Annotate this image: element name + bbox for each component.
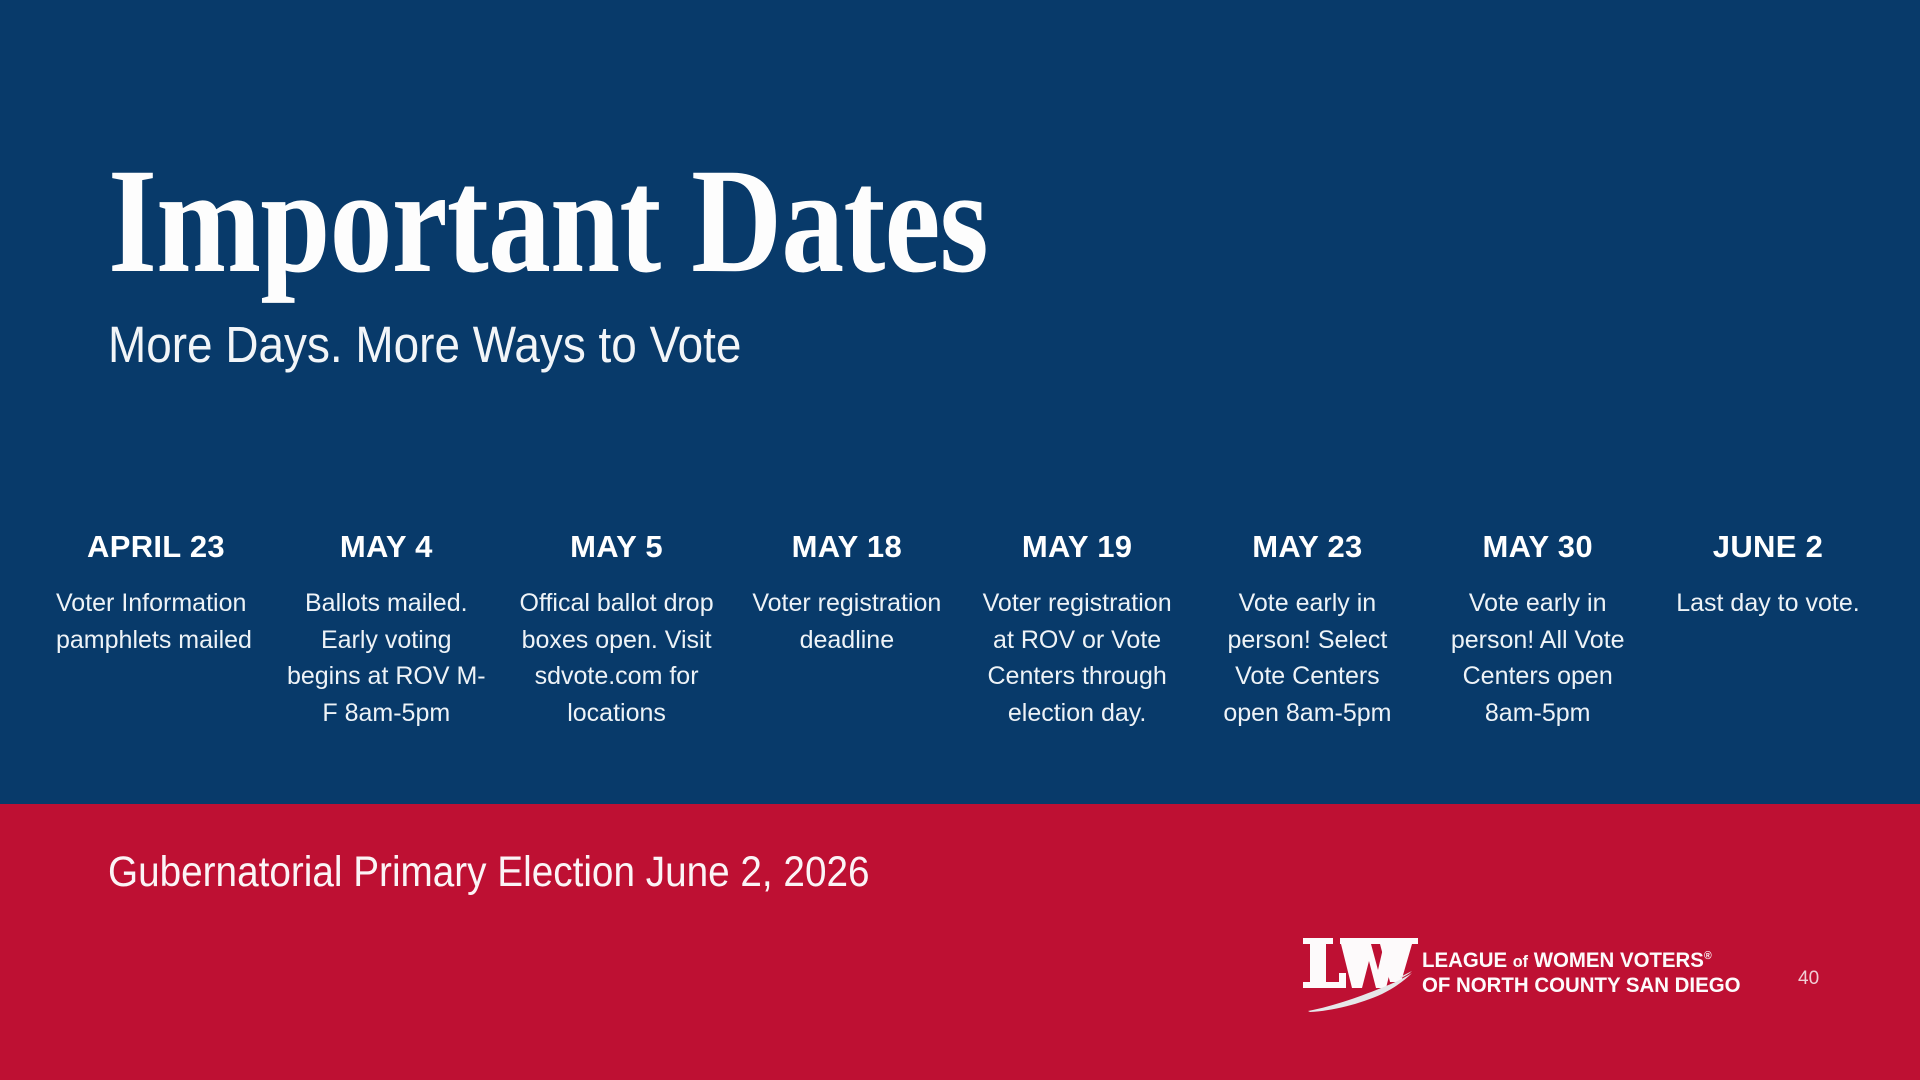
page-subtitle: More Days. More Ways to Vote <box>108 317 1368 373</box>
date-column-june-2: JUNE 2 Last day to vote. <box>1668 530 1868 622</box>
lwv-women-voters-text: WOMEN VOTERS <box>1528 948 1704 972</box>
lwv-logo: LEAGUE of WOMEN VOTERS® OF NORTH COUNTY … <box>1300 932 1770 1014</box>
date-heading: MAY 30 <box>1438 530 1638 563</box>
lwv-league-text: LEAGUE <box>1422 948 1513 972</box>
date-column-may-30: MAY 30 Vote early in person! All Vote Ce… <box>1438 530 1638 731</box>
date-heading: MAY 4 <box>286 530 486 563</box>
date-heading: MAY 18 <box>747 530 947 563</box>
date-heading: MAY 23 <box>1207 530 1407 563</box>
date-column-may-23: MAY 23 Vote early in person! Select Vote… <box>1207 530 1407 731</box>
lwv-of-text: of <box>1513 952 1528 971</box>
slide-important-dates: Important Dates More Days. More Ways to … <box>0 0 1920 1080</box>
page-title: Important Dates <box>108 148 1284 295</box>
date-description: Vote early in person! Select Vote Center… <box>1207 585 1407 731</box>
date-description: Ballots mailed. Early voting begins at R… <box>286 585 486 731</box>
lwv-wordmark: LEAGUE of WOMEN VOTERS® OF NORTH COUNTY … <box>1422 948 1757 998</box>
date-description: Voter registration at ROV or Vote Center… <box>977 585 1177 731</box>
date-column-may-5: MAY 5 Offical ballot drop boxes open. Vi… <box>517 530 717 731</box>
date-column-may-19: MAY 19 Voter registration at ROV or Vote… <box>977 530 1177 731</box>
date-description: Last day to vote. <box>1668 585 1868 622</box>
date-description: Offical ballot drop boxes open. Visit sd… <box>517 585 717 731</box>
title-block: Important Dates More Days. More Ways to … <box>108 148 1508 373</box>
lwv-wordmark-line2: OF NORTH COUNTY SAN DIEGO <box>1422 973 1741 998</box>
election-banner-text: Gubernatorial Primary Election June 2, 2… <box>108 849 870 896</box>
date-column-april-23: APRIL 23 Voter Information pamphlets mai… <box>56 530 256 658</box>
date-column-may-4: MAY 4 Ballots mailed. Early voting begin… <box>286 530 486 731</box>
date-heading: JUNE 2 <box>1668 530 1868 563</box>
date-column-may-18: MAY 18 Voter registration deadline <box>747 530 947 658</box>
registered-trademark-icon: ® <box>1704 950 1712 962</box>
date-description: Voter registration deadline <box>747 585 947 658</box>
lwv-monogram-icon <box>1300 932 1418 1014</box>
lwv-wordmark-line1: LEAGUE of WOMEN VOTERS® <box>1422 948 1741 973</box>
important-dates-timeline: APRIL 23 Voter Information pamphlets mai… <box>56 530 1868 731</box>
date-description: Voter Information pamphlets mailed <box>56 585 256 658</box>
date-heading: APRIL 23 <box>56 530 256 563</box>
page-number: 40 <box>1798 968 1838 990</box>
date-description: Vote early in person! All Vote Centers o… <box>1438 585 1638 731</box>
date-heading: MAY 5 <box>517 530 717 563</box>
date-heading: MAY 19 <box>977 530 1177 563</box>
